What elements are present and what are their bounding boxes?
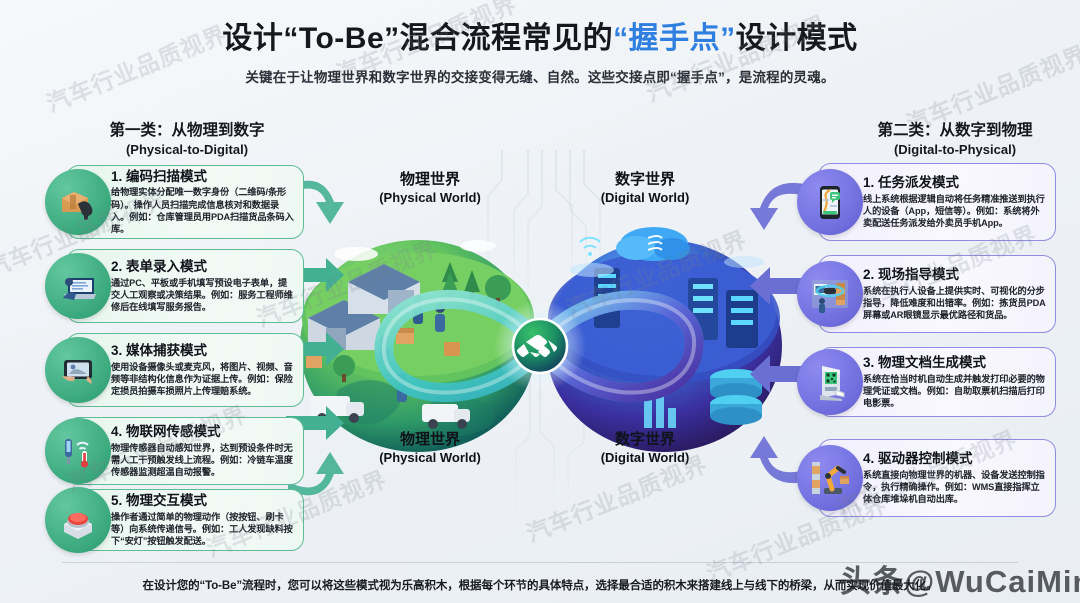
iot-sensor-thermometer-icon	[45, 418, 111, 484]
physical-world-cn-top: 物理世界	[330, 168, 530, 189]
label-physical-world-top: 物理世界 (Physical World)	[330, 168, 530, 205]
card-desc: 使用设备摄像头或麦克风，将图片、视频、音频等非结构化信息作为证据上传。例如：保险…	[111, 361, 295, 398]
card-title: 3. 媒体捕获模式	[111, 343, 295, 360]
database-icons	[710, 369, 762, 425]
laptop-form-entry-icon	[45, 253, 111, 319]
card-digital-to-physical-4[interactable]: 4. 驱动器控制模式 系统直接向物理世界的机器、设备发送控制指令，执行精确操作。…	[818, 439, 1056, 517]
digital-world-en-bottom: (Digital World)	[545, 450, 745, 465]
ar-glasses-guidance-icon	[797, 261, 863, 327]
physical-world-cn-bottom: 物理世界	[330, 428, 530, 449]
card-title: 4. 物联网传感模式	[111, 424, 295, 441]
right-heading-cn: 第二类：从数字到物理	[830, 118, 1080, 140]
digital-world-cn-top: 数字世界	[545, 168, 745, 189]
barcode-scanner-icon	[45, 169, 111, 235]
physical-world-en-top: (Physical World)	[330, 190, 530, 205]
card-desc: 系统在恰当时机自动生成并触发打印必要的物理凭证或文档。例如：自助取票机扫描后打印…	[863, 373, 1047, 410]
card-digital-to-physical-1[interactable]: 1. 任务派发模式 线上系统根据逻辑自动将任务精准推送到执行人的设备（App，短…	[818, 163, 1056, 241]
card-title: 4. 驱动器控制模式	[863, 451, 1047, 468]
card-desc: 线上系统根据逻辑自动将任务精准推送到执行人的设备（App，短信等）。例如：系统将…	[863, 193, 1047, 230]
robot-arm-icon	[797, 445, 863, 511]
card-desc: 通过PC、平板或手机填写预设电子表单，提交人工观察或决策结果。例如：服务工程师维…	[111, 277, 295, 314]
card-desc: 操作者通过简单的物理动作（按按钮、刷卡等）向系统传递信号。例如：工人发现缺料按下…	[111, 511, 295, 548]
phone-camera-icon	[45, 337, 111, 403]
title-part-2: 设计模式	[736, 22, 858, 55]
card-physical-to-digital-2[interactable]: 2. 表单录入模式 通过PC、平板或手机填写预设电子表单，提交人工观察或决策结果…	[66, 249, 304, 323]
physical-world-en-bottom: (Physical World)	[330, 450, 530, 465]
card-title: 1. 任务派发模式	[863, 175, 1047, 192]
card-physical-to-digital-5[interactable]: 5. 物理交互模式 操作者通过简单的物理动作（按按钮、刷卡等）向系统传递信号。例…	[66, 489, 304, 551]
header: 设计“To-Be”混合流程常见的“握手点”设计模式 关键在于让物理世界和数字世界…	[0, 0, 1080, 86]
left-heading-cn: 第一类：从物理到数字	[62, 118, 312, 140]
card-title: 5. 物理交互模式	[111, 493, 295, 510]
card-physical-to-digital-4[interactable]: 4. 物联网传感模式 物理传感器自动感知世界，达到预设条件时无需人工干预触发线上…	[66, 417, 304, 485]
cloud-icon	[616, 227, 690, 261]
card-desc: 给物理实体分配唯一数字身份（二维码/条形码）。操作人员扫描完成信息核对和数据录入…	[111, 186, 295, 235]
title-highlight: “握手点”	[613, 22, 736, 55]
card-desc: 系统直接向物理世界的机器、设备发送控制指令，执行精确操作。例如：WMS直接指挥立…	[863, 469, 1047, 506]
handshake-badge	[494, 300, 586, 392]
right-column-heading: 第二类：从数字到物理 (Digital-to-Physical)	[830, 118, 1080, 157]
card-title: 3. 物理文档生成模式	[863, 355, 1047, 372]
footer-divider	[62, 562, 1018, 563]
card-digital-to-physical-2[interactable]: 2. 现场指导模式 系统在执行人设备上提供实时、可视化的分步指导，降低难度和出错…	[818, 255, 1056, 333]
red-push-button-icon	[45, 487, 111, 553]
digital-world-cn-bottom: 数字世界	[545, 428, 745, 449]
card-physical-to-digital-1[interactable]: 1. 编码扫描模式 给物理实体分配唯一数字身份（二维码/条形码）。操作人员扫描完…	[66, 165, 304, 239]
left-heading-en: (Physical-to-Digital)	[62, 142, 312, 157]
page-title: 设计“To-Be”混合流程常见的“握手点”设计模式	[0, 22, 1080, 57]
label-digital-world-bottom: 数字世界 (Digital World)	[545, 428, 745, 465]
card-title: 2. 表单录入模式	[111, 259, 295, 276]
smartphone-map-dispatch-icon	[797, 169, 863, 235]
card-title: 1. 编码扫描模式	[111, 169, 295, 186]
digital-world-en-top: (Digital World)	[545, 190, 745, 205]
left-column-heading: 第一类：从物理到数字 (Physical-to-Digital)	[62, 118, 312, 157]
label-digital-world-top: 数字世界 (Digital World)	[545, 168, 745, 205]
footer-note: 在设计您的“To-Be”流程时，您可以将这些模式视为乐高积木，根据每个环节的具体…	[0, 577, 1080, 593]
wifi-icon	[580, 238, 600, 256]
card-physical-to-digital-3[interactable]: 3. 媒体捕获模式 使用设备摄像头或麦克风，将图片、视频、音频等非结构化信息作为…	[66, 333, 304, 407]
kiosk-printer-icon	[797, 349, 863, 415]
card-digital-to-physical-3[interactable]: 3. 物理文档生成模式 系统在恰当时机自动生成并触发打印必要的物理凭证或文档。例…	[818, 347, 1056, 417]
right-heading-en: (Digital-to-Physical)	[830, 142, 1080, 157]
infographic-page: 设计“To-Be”混合流程常见的“握手点”设计模式 关键在于让物理世界和数字世界…	[0, 0, 1080, 603]
card-title: 2. 现场指导模式	[863, 267, 1047, 284]
card-desc: 系统在执行人设备上提供实时、可视化的分步指导，降低难度和出错率。例如：拣货员PD…	[863, 285, 1047, 322]
title-part-1: 设计“To-Be”混合流程常见的	[222, 22, 613, 55]
card-desc: 物理传感器自动感知世界，达到预设条件时无需人工干预触发线上流程。例如：冷链车温度…	[111, 442, 295, 479]
label-physical-world-bottom: 物理世界 (Physical World)	[330, 428, 530, 465]
page-subtitle: 关键在于让物理世界和数字世界的交接变得无缝、自然。这些交接点即“握手点”，是流程…	[0, 66, 1080, 86]
